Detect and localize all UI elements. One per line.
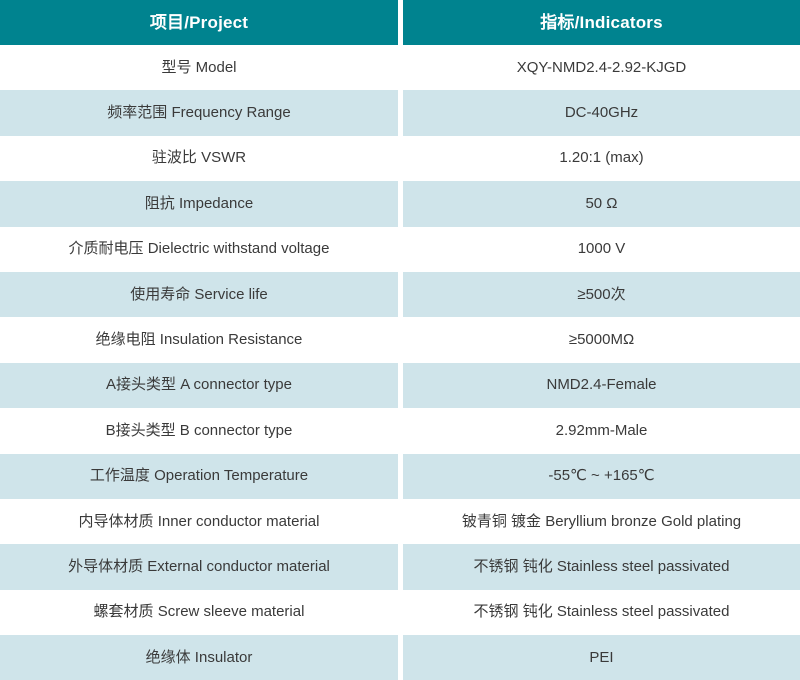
table-row: 阻抗 Impedance50 Ω [0,181,800,226]
table-row: 型号 ModelXQY-NMD2.4-2.92-KJGD [0,45,800,90]
table-row: 螺套材质 Screw sleeve material不锈钢 钝化 Stainle… [0,590,800,635]
cell-indicators: 不锈钢 钝化 Stainless steel passivated [403,544,800,589]
cell-project: A接头类型 A connector type [0,363,398,408]
cell-project: 使用寿命 Service life [0,272,398,317]
table-row: 工作温度 Operation Temperature-55℃ ~ +165℃ [0,454,800,499]
cell-indicators: 1000 V [403,227,800,272]
cell-project: 型号 Model [0,45,398,90]
cell-indicators: XQY-NMD2.4-2.92-KJGD [403,45,800,90]
cell-indicators: 50 Ω [403,181,800,226]
cell-project: 外导体材质 External conductor material [0,544,398,589]
cell-indicators: 铍青铜 镀金 Beryllium bronze Gold plating [403,499,800,544]
specification-table: 项目/Project 指标/Indicators 型号 ModelXQY-NMD… [0,0,800,680]
cell-project: 驻波比 VSWR [0,136,398,181]
cell-indicators: DC-40GHz [403,90,800,135]
cell-project: B接头类型 B connector type [0,408,398,453]
cell-project: 绝缘体 Insulator [0,635,398,680]
cell-indicators: PEI [403,635,800,680]
cell-project: 绝缘电阻 Insulation Resistance [0,317,398,362]
cell-indicators: NMD2.4-Female [403,363,800,408]
table-row: 绝缘体 InsulatorPEI [0,635,800,680]
cell-indicators: -55℃ ~ +165℃ [403,454,800,499]
cell-project: 螺套材质 Screw sleeve material [0,590,398,635]
table-row: 驻波比 VSWR1.20:1 (max) [0,136,800,181]
cell-project: 阻抗 Impedance [0,181,398,226]
table-row: 内导体材质 Inner conductor material铍青铜 镀金 Ber… [0,499,800,544]
cell-project: 工作温度 Operation Temperature [0,454,398,499]
cell-indicators: 2.92mm-Male [403,408,800,453]
cell-project: 频率范围 Frequency Range [0,90,398,135]
table-row: A接头类型 A connector typeNMD2.4-Female [0,363,800,408]
column-header-indicators: 指标/Indicators [403,0,800,45]
table-row: B接头类型 B connector type2.92mm-Male [0,408,800,453]
cell-indicators: 不锈钢 钝化 Stainless steel passivated [403,590,800,635]
table-body: 型号 ModelXQY-NMD2.4-2.92-KJGD频率范围 Frequen… [0,45,800,680]
cell-project: 内导体材质 Inner conductor material [0,499,398,544]
table-header-row: 项目/Project 指标/Indicators [0,0,800,45]
cell-indicators: 1.20:1 (max) [403,136,800,181]
cell-indicators: ≥500次 [403,272,800,317]
cell-indicators: ≥5000MΩ [403,317,800,362]
table-row: 外导体材质 External conductor material不锈钢 钝化 … [0,544,800,589]
column-header-project: 项目/Project [0,0,398,45]
table-row: 使用寿命 Service life≥500次 [0,272,800,317]
cell-project: 介质耐电压 Dielectric withstand voltage [0,227,398,272]
table-row: 绝缘电阻 Insulation Resistance≥5000MΩ [0,317,800,362]
table-row: 介质耐电压 Dielectric withstand voltage1000 V [0,227,800,272]
table-row: 频率范围 Frequency RangeDC-40GHz [0,90,800,135]
